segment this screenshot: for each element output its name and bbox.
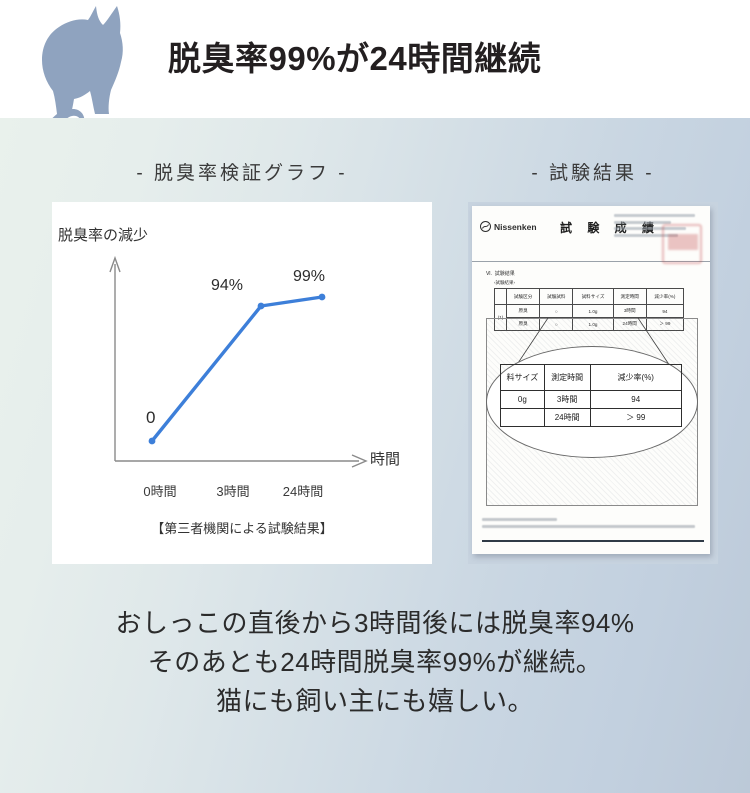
document-footer-text xyxy=(482,518,704,531)
copy-line-1: おしっこの直後から3時間後には脱臭率94% xyxy=(0,604,750,643)
bottom-copy: おしっこの直後から3時間後には脱臭率94% そのあとも24時間脱臭率99%が継続… xyxy=(0,604,750,721)
magnified-result-table: 料サイズ 測定時間 減少率(%) 0g 3時間 94 24時間 ＞ 99 xyxy=(500,364,682,427)
test-result-document-panel: Nissenken 試 験 成 績 Ⅵ. 試験結果 ‹試験結果› xyxy=(468,202,718,564)
mag-col-rate: 減少率(%) xyxy=(590,365,681,391)
cat-silhouette-icon xyxy=(33,2,138,135)
x-tick-0h: 0時間 xyxy=(130,481,190,500)
mag-col-time: 測定時間 xyxy=(544,365,590,391)
data-label-94: 94% xyxy=(211,277,243,295)
data-label-99: 99% xyxy=(293,268,325,286)
mag-col-size: 料サイズ xyxy=(501,365,545,391)
section-title-result: - 試験結果 - xyxy=(468,158,718,185)
x-tick-3h: 3時間 xyxy=(203,481,263,500)
table-row: 24時間 ＞ 99 xyxy=(501,409,682,427)
table-header-row: 料サイズ 測定時間 減少率(%) xyxy=(501,365,682,391)
chart-panel xyxy=(52,202,432,564)
copy-line-3: 猫にも飼い主にも嬉しい。 xyxy=(0,682,750,721)
chart-caption: 【第三者機関による試験結果】 xyxy=(52,518,432,537)
header-band: 脱臭率99%が24時間継続 xyxy=(0,0,750,118)
document-page: Nissenken 試 験 成 績 Ⅵ. 試験結果 ‹試験結果› xyxy=(472,206,710,554)
section-title-graph: - 脱臭率検証グラフ - xyxy=(52,158,432,185)
y-axis-label: 脱臭率の減少 xyxy=(58,224,148,245)
line-chart xyxy=(52,202,432,564)
document-bottom-rule xyxy=(482,540,704,542)
page-title: 脱臭率99%が24時間継続 xyxy=(168,33,618,85)
infographic-page: 脱臭率99%が24時間継続 - 脱臭率検証グラフ - - 試験結果 - 脱臭率の… xyxy=(0,0,750,793)
x-tick-24h: 24時間 xyxy=(268,481,338,500)
table-row: 0g 3時間 94 xyxy=(501,391,682,409)
x-axis-label: 時間 xyxy=(370,448,400,469)
copy-line-2: そのあとも24時間脱臭率99%が継続。 xyxy=(0,643,750,682)
data-label-0: 0 xyxy=(146,408,155,428)
